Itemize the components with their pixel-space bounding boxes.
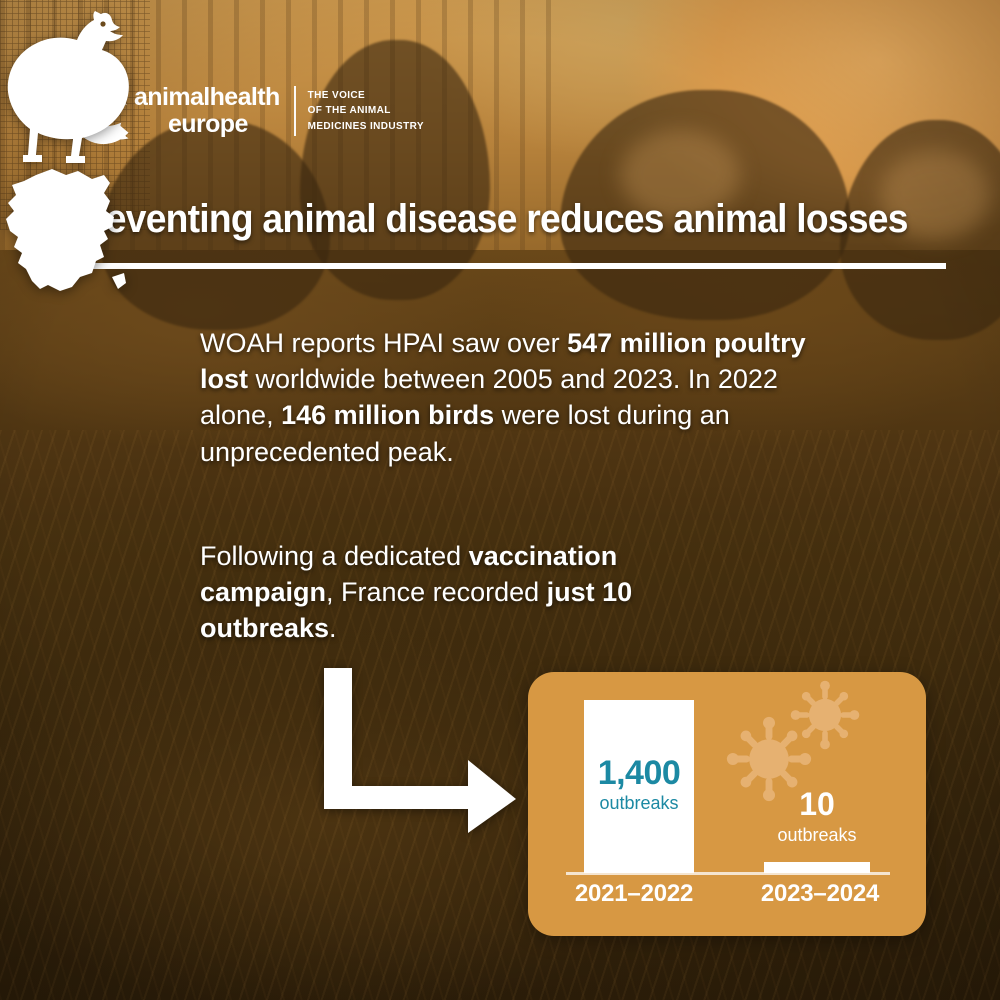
elbow-arrow-right-icon xyxy=(318,668,518,833)
bar-2023-2024-value: 10 outbreaks xyxy=(750,788,884,847)
brand-wordmark: animalhealth europe xyxy=(134,85,280,137)
france-map-silhouette-icon xyxy=(0,165,128,297)
logo-divider xyxy=(294,86,296,136)
stat-block-france-text: Following a dedicated vaccination campai… xyxy=(200,538,720,647)
brand-tagline: THE VOICE OF THE ANIMAL MEDICINES INDUST… xyxy=(308,88,424,135)
x-axis-label-2021-2022: 2021–2022 xyxy=(554,880,714,908)
bar-2021-2022-unit: outbreaks xyxy=(584,792,694,815)
outbreak-comparison-chart-panel: 1,400 outbreaks 10 outbreaks 2021–2022 2… xyxy=(528,672,926,936)
brand-wordmark-line1: animalhealth xyxy=(134,85,280,110)
bar-2021-2022-number: 1,400 xyxy=(584,756,694,790)
brand-tagline-line2: OF THE ANIMAL xyxy=(308,103,424,119)
brand-tagline-line1: THE VOICE xyxy=(308,88,424,104)
chicken-silhouette-icon xyxy=(0,0,135,165)
page-title: Preventing animal disease reduces animal… xyxy=(68,198,886,240)
bar-2023-2024-number: 10 xyxy=(750,788,884,820)
stat-block-poultry: WOAH reports HPAI saw over 547 million p… xyxy=(200,325,820,470)
bar-2021-2022-value: 1,400 outbreaks xyxy=(584,756,694,815)
chart-baseline-axis xyxy=(566,872,890,875)
bar-2023-2024-unit: outbreaks xyxy=(750,824,884,847)
x-axis-label-2023-2024: 2023–2024 xyxy=(740,880,900,908)
bar-chart-plot-area: 1,400 outbreaks 10 outbreaks 2021–2022 2… xyxy=(528,672,926,936)
brand-tagline-line3: MEDICINES INDUSTRY xyxy=(308,119,424,135)
stat-block-france: Following a dedicated vaccination campai… xyxy=(200,538,720,647)
infographic-canvas: animalhealth europe THE VOICE OF THE ANI… xyxy=(0,0,1000,1000)
stat-block-poultry-text: WOAH reports HPAI saw over 547 million p… xyxy=(200,325,820,470)
brand-wordmark-line2: europe xyxy=(168,112,280,137)
title-divider-rule xyxy=(68,263,946,269)
